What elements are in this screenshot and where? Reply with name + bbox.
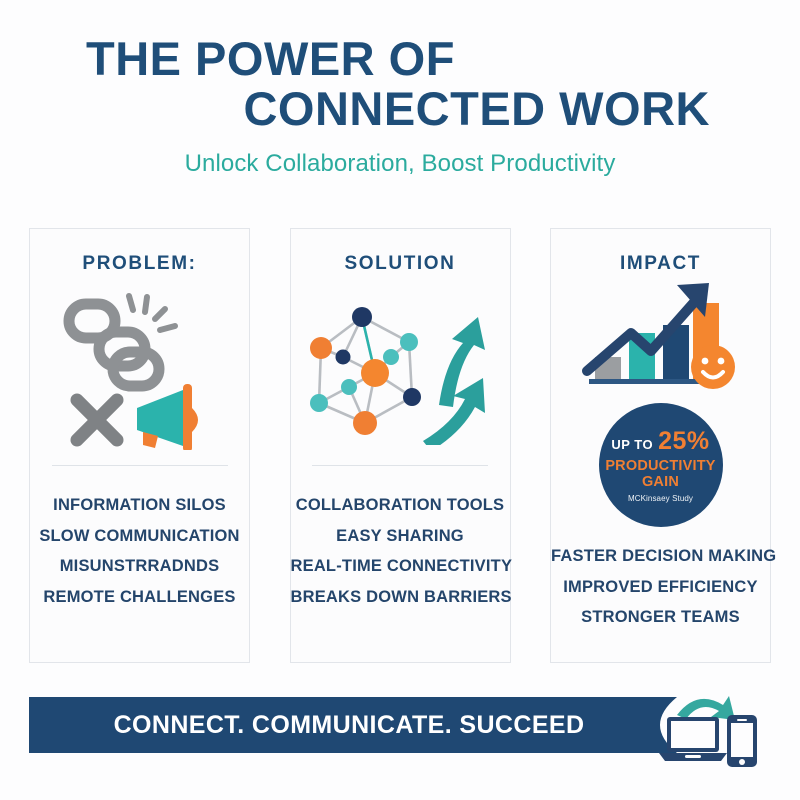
- status-badge: UP TO 25% PRODUCTIVITY GAIN MCKinsaey St…: [599, 403, 723, 527]
- card-solution-title: SOLUTION: [345, 253, 456, 275]
- list-item: BREAKS DOWN BARRIERS: [291, 582, 510, 613]
- badge-percent: 25%: [658, 427, 710, 456]
- badge-label-line-2: GAIN: [605, 475, 715, 491]
- title-line-2: CONNECTED WORK: [80, 84, 720, 134]
- card-problem-divider: [52, 465, 228, 466]
- card-problem: PROBLEM:: [29, 228, 250, 663]
- page-title: THE POWER OF CONNECTED WORK: [80, 34, 720, 134]
- list-item: IMPROVED EFFICIENCY: [551, 572, 770, 603]
- badge-label-line-1: PRODUCTIVITY: [605, 459, 715, 475]
- header: THE POWER OF CONNECTED WORK Unlock Colla…: [0, 0, 800, 178]
- badge-area: UP TO 25% PRODUCTIVITY GAIN MCKinsaey St…: [599, 395, 723, 535]
- growth-bar-chart-icon: [551, 275, 770, 395]
- title-line-1: THE POWER OF: [80, 34, 720, 84]
- page-subtitle: Unlock Collaboration, Boost Productivity: [0, 150, 800, 178]
- list-item: STRONGER TEAMS: [551, 602, 770, 633]
- list-item: EASY SHARING: [291, 521, 510, 552]
- list-item: REMOTE CHALLENGES: [30, 582, 249, 613]
- card-impact-bullets: FASTER DECISION MAKING IMPROVED EFFICIEN…: [551, 541, 770, 633]
- card-solution-divider: [312, 465, 488, 466]
- list-item: REAL-TIME CONNECTIVITY: [291, 551, 510, 582]
- list-item: COLLABORATION TOOLS: [291, 490, 510, 521]
- card-solution: SOLUTION: [290, 228, 511, 663]
- cards-row: PROBLEM:: [29, 228, 771, 663]
- list-item: SLOW COMMUNICATION: [30, 521, 249, 552]
- list-item: INFORMATION SILOS: [30, 490, 249, 521]
- list-item: MISUNSTRRADNDS: [30, 551, 249, 582]
- badge-source: MCKinsaey Study: [628, 494, 693, 503]
- card-problem-bullets: INFORMATION SILOS SLOW COMMUNICATION MIS…: [30, 490, 249, 612]
- laptop-and-phone-sync-icon: [655, 685, 765, 772]
- list-item: FASTER DECISION MAKING: [551, 541, 770, 572]
- card-solution-bullets: COLLABORATION TOOLS EASY SHARING REAL-TI…: [291, 490, 510, 612]
- badge-headline: UP TO 25%: [611, 427, 709, 456]
- card-impact-title: IMPACT: [620, 253, 701, 275]
- card-problem-title: PROBLEM:: [82, 253, 196, 275]
- card-impact: IMPACT UP: [550, 228, 771, 663]
- badge-prefix: UP TO: [611, 437, 653, 452]
- network-nodes-and-arrows-icon: [291, 275, 510, 465]
- badge-label: PRODUCTIVITY GAIN: [605, 459, 715, 490]
- broken-chain-and-megaphone-icon: [30, 275, 249, 465]
- footer-banner: CONNECT. COMMUNICATE. SUCCEED: [29, 697, 771, 753]
